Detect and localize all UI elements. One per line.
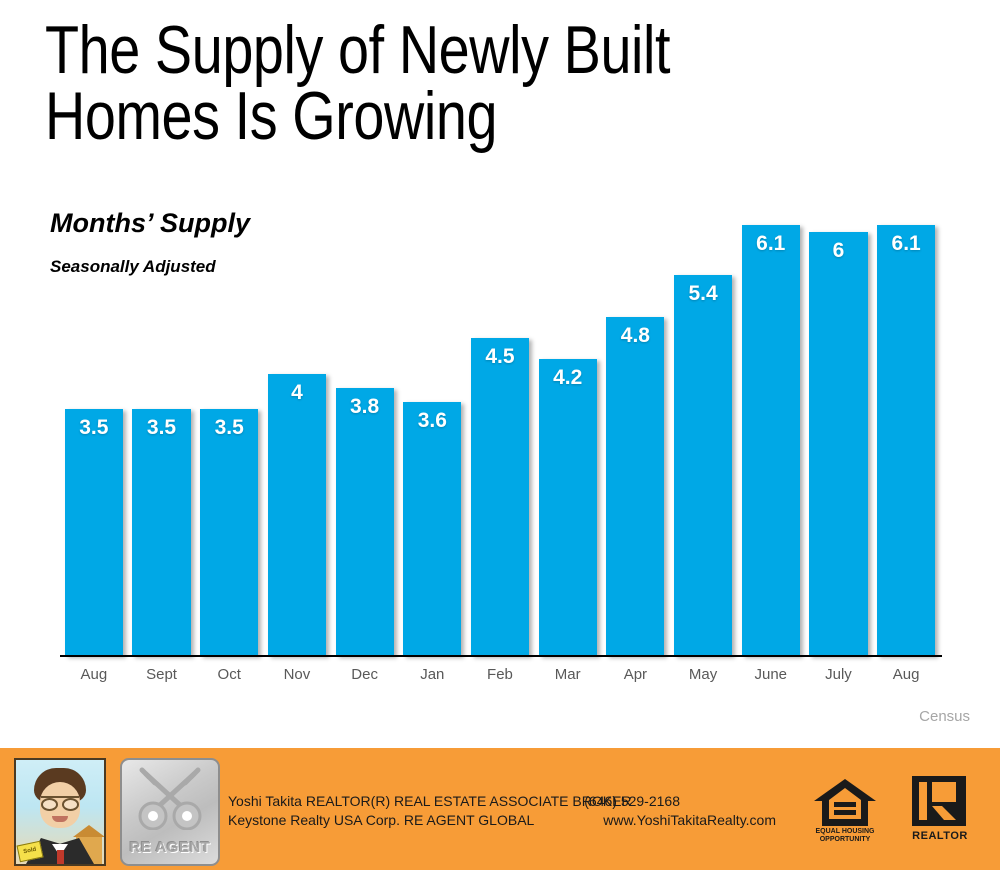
footer-banner: Sold <box>0 748 1000 870</box>
bar[interactable]: 3.6 <box>403 402 461 656</box>
bar-value-label: 5.4 <box>674 283 732 304</box>
agent-company: Keystone Realty USA Corp. RE AGENT GLOBA… <box>228 812 534 828</box>
bar-value-label: 3.6 <box>403 410 461 431</box>
bar-column: 3.6 <box>403 190 461 656</box>
realtor-r-glyph <box>912 776 966 826</box>
x-tick-label: June <box>737 666 805 683</box>
bar[interactable]: 3.8 <box>336 388 394 656</box>
bar-column: 6 <box>809 190 867 656</box>
portrait-glasses <box>41 796 79 808</box>
source-label: Census <box>919 708 970 725</box>
bar[interactable]: 6.1 <box>742 225 800 656</box>
x-tick-label: Mar <box>534 666 602 683</box>
bar[interactable]: 4.2 <box>539 359 597 656</box>
x-tick-label: Nov <box>263 666 331 683</box>
bar-value-label: 3.8 <box>336 396 394 417</box>
x-axis-labels: AugSeptOctNovDecJanFebMarAprMayJuneJulyA… <box>60 666 940 692</box>
chart-plot-area: 3.53.53.543.83.64.54.24.85.46.166.1 <box>60 190 940 656</box>
realtor-r-mark <box>912 776 966 826</box>
bar[interactable]: 6.1 <box>877 225 935 656</box>
x-axis-line <box>60 655 942 657</box>
footer-row-1: Yoshi Takita REALTOR(R) REAL ESTATE ASSO… <box>228 793 788 812</box>
bar[interactable]: 3.5 <box>200 409 258 656</box>
eho-house-glyph <box>812 776 878 832</box>
realtor-logo-icon: REALTOR <box>910 776 970 842</box>
bar-value-label: 4.5 <box>471 346 529 367</box>
bar-column: 4.5 <box>471 190 529 656</box>
bar-column: 3.5 <box>65 190 123 656</box>
crossed-keys-icon <box>122 766 218 830</box>
agent-website[interactable]: www.YoshiTakitaRealty.com <box>603 812 776 828</box>
x-tick-label: Dec <box>331 666 399 683</box>
footer-contact-block: Yoshi Takita REALTOR(R) REAL ESTATE ASSO… <box>228 793 788 831</box>
eho-label-line1: EQUAL HOUSING <box>806 828 884 836</box>
slide-canvas: The Supply of Newly Built Homes Is Growi… <box>0 0 1000 870</box>
bar[interactable]: 4.8 <box>606 317 664 656</box>
bar-value-label: 4 <box>268 382 326 403</box>
bar-column: 3.5 <box>132 190 190 656</box>
re-agent-logo: RE AGENT <box>120 758 220 866</box>
bar-value-label: 6 <box>809 240 867 261</box>
x-tick-label: Feb <box>466 666 534 683</box>
bar-value-label: 6.1 <box>742 233 800 254</box>
eho-label-line2: OPPORTUNITY <box>806 836 884 844</box>
x-tick-label: May <box>669 666 737 683</box>
footer-row-2: Keystone Realty USA Corp. RE AGENT GLOBA… <box>228 812 788 831</box>
bar-value-label: 3.5 <box>200 417 258 438</box>
x-tick-label: Jan <box>398 666 466 683</box>
re-agent-label: RE AGENT <box>122 839 218 856</box>
bar[interactable]: 3.5 <box>132 409 190 656</box>
x-tick-label: July <box>805 666 873 683</box>
bar[interactable]: 5.4 <box>674 275 732 656</box>
agent-phone: (646) 529-2168 <box>584 793 680 809</box>
bar[interactable]: 6 <box>809 232 867 656</box>
bar-column: 4.8 <box>606 190 664 656</box>
x-tick-label: Aug <box>60 666 128 683</box>
bar-column: 4.2 <box>539 190 597 656</box>
bar-column: 5.4 <box>674 190 732 656</box>
bar-value-label: 6.1 <box>877 233 935 254</box>
agent-name-title: Yoshi Takita REALTOR(R) REAL ESTATE ASSO… <box>228 793 632 809</box>
bar-column: 4 <box>268 190 326 656</box>
x-tick-label: Apr <box>602 666 670 683</box>
eho-label: EQUAL HOUSING OPPORTUNITY <box>806 828 884 844</box>
bar-value-label: 3.5 <box>132 417 190 438</box>
bar-value-label: 4.8 <box>606 325 664 346</box>
x-tick-label: Aug <box>872 666 940 683</box>
bar[interactable]: 3.5 <box>65 409 123 656</box>
bar-column: 3.8 <box>336 190 394 656</box>
bar-column: 6.1 <box>877 190 935 656</box>
bar-column: 3.5 <box>200 190 258 656</box>
realtor-label: REALTOR <box>910 830 970 842</box>
portrait-tie <box>57 850 64 864</box>
x-tick-label: Oct <box>195 666 263 683</box>
bar-column: 6.1 <box>742 190 800 656</box>
bar-chart: 3.53.53.543.83.64.54.24.85.46.166.1 AugS… <box>0 0 1000 748</box>
equal-housing-opportunity-icon: EQUAL HOUSING OPPORTUNITY <box>812 776 878 842</box>
bar[interactable]: 4.5 <box>471 338 529 656</box>
agent-portrait-icon: Sold <box>14 758 106 866</box>
x-tick-label: Sept <box>128 666 196 683</box>
bar-value-label: 4.2 <box>539 367 597 388</box>
bar-value-label: 3.5 <box>65 417 123 438</box>
bar[interactable]: 4 <box>268 374 326 656</box>
